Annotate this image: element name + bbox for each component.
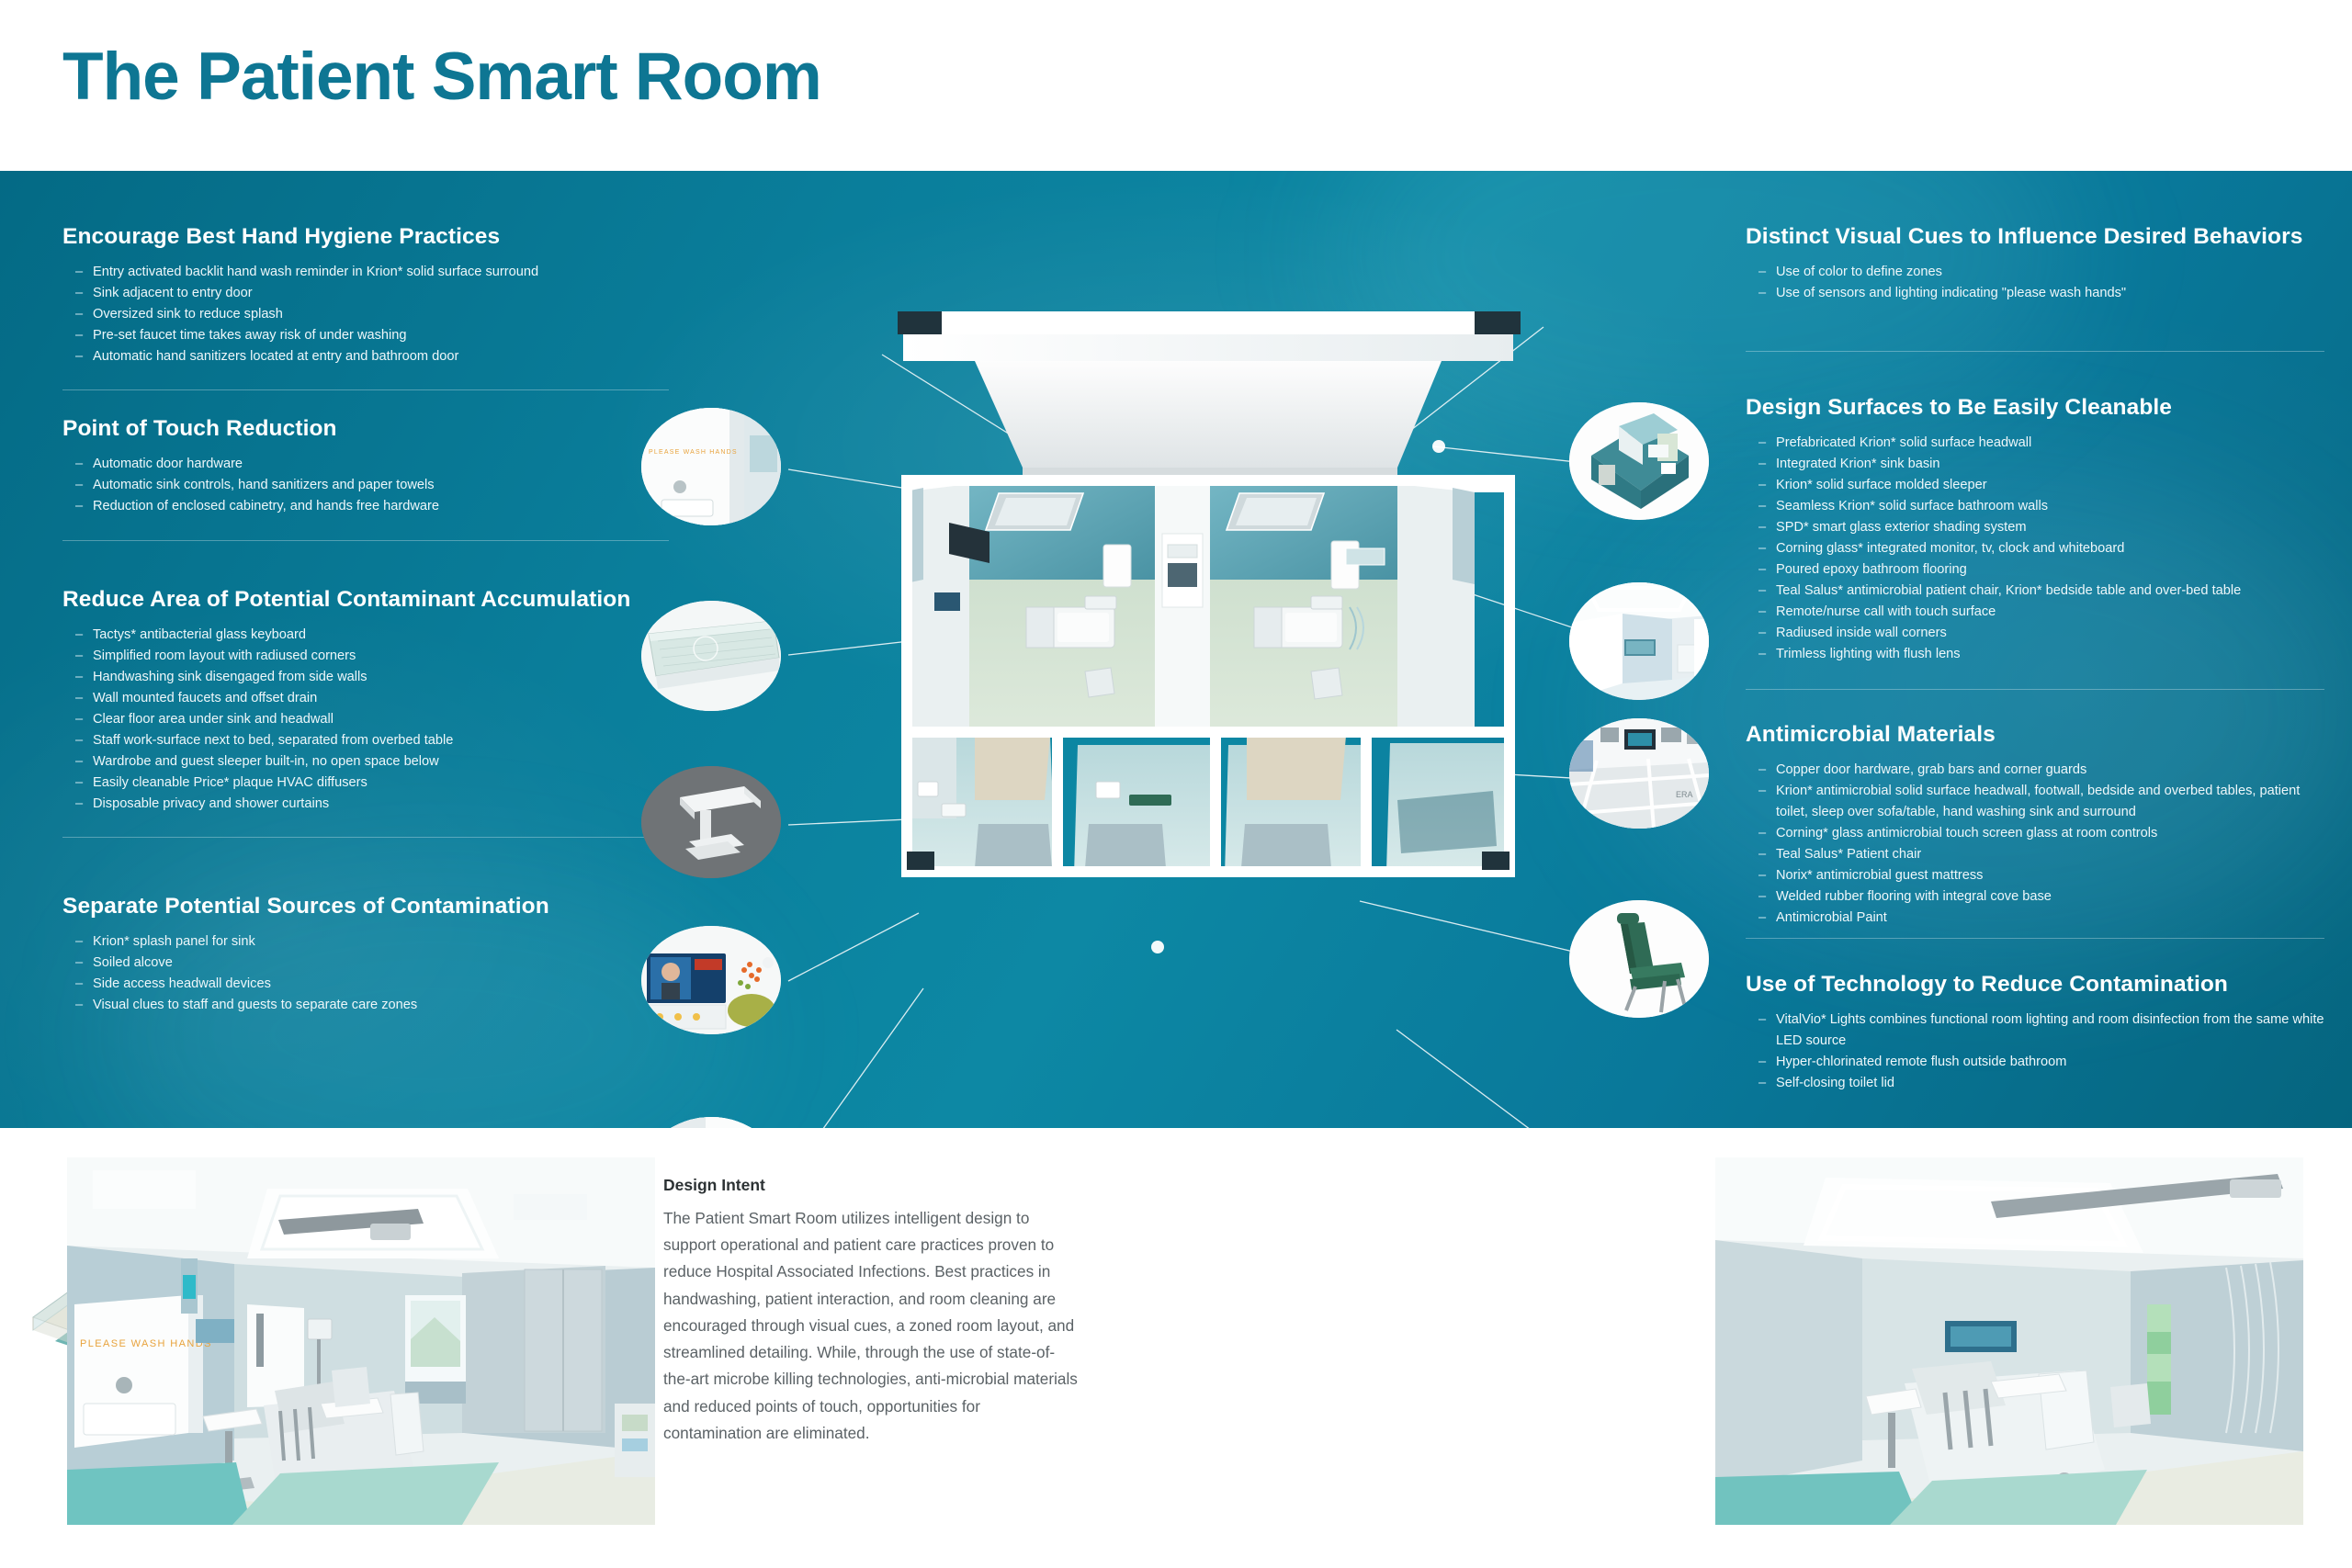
list-item: Clear floor area under sink and headwall [62, 709, 630, 730]
patient-chair-callout [1569, 900, 1709, 1018]
section-heading: Distinct Visual Cues to Influence Desire… [1746, 224, 2302, 250]
list-item: Staff work-surface next to bed, separate… [62, 730, 630, 751]
list-item: Soiled alcove [62, 953, 549, 974]
list-item: SPD* smart glass exterior shading system [1746, 517, 2241, 538]
list-item: Corning* glass antimicrobial touch scree… [1746, 823, 2324, 844]
list-item: Tactys* antibacterial glass keyboard [62, 625, 630, 646]
list-item: Sink adjacent to entry door [62, 283, 538, 304]
svg-text:PLEASE WASH HANDS: PLEASE WASH HANDS [649, 449, 738, 456]
list-item: Easily cleanable Price* plaque HVAC diff… [62, 773, 630, 794]
list-item: Automatic door hardware [62, 454, 439, 475]
section-list: Tactys* antibacterial glass keyboard Sim… [62, 625, 630, 815]
section-list: Entry activated backlit hand wash remind… [62, 262, 538, 367]
list-item: Entry activated backlit hand wash remind… [62, 262, 538, 283]
list-item: Use of color to define zones [1746, 262, 2302, 283]
section-heading: Point of Touch Reduction [62, 416, 439, 442]
divider [1746, 351, 2324, 352]
patient-room-photo-right [1715, 1157, 2303, 1525]
list-item: Krion* splash panel for sink [62, 931, 549, 953]
list-item: Krion* solid surface molded sleeper [1746, 475, 2241, 496]
section-heading: Encourage Best Hand Hygiene Practices [62, 224, 538, 250]
divider [1746, 689, 2324, 690]
section-contaminant-accumulation: Reduce Area of Potential Contaminant Acc… [62, 587, 630, 815]
section-hand-hygiene: Encourage Best Hand Hygiene Practices En… [62, 224, 538, 367]
list-item: Teal Salus* Patient chair [1746, 844, 2324, 865]
list-item: Simplified room layout with radiused cor… [62, 646, 630, 667]
list-item: Wardrobe and guest sleeper built-in, no … [62, 751, 630, 773]
divider [62, 540, 669, 541]
list-item: Teal Salus* antimicrobial patient chair,… [1746, 581, 2241, 602]
bottom-strip: PLEASE WASH HANDS [0, 1128, 2352, 1568]
section-list: Copper door hardware, grab bars and corn… [1746, 760, 2324, 929]
list-item: Antimicrobial Paint [1746, 908, 2324, 929]
design-intent-body: The Patient Smart Room utilizes intellig… [663, 1205, 1081, 1447]
divider [62, 389, 669, 390]
zoned-color-room-callout [1569, 402, 1709, 520]
glass-keyboard-callout [641, 601, 781, 711]
list-item: Automatic hand sanitizers located at ent… [62, 346, 538, 367]
trimless-lighting-callout [1569, 582, 1709, 700]
design-intent-block: Design Intent The Patient Smart Room uti… [663, 1176, 1081, 1447]
list-item: Welded rubber flooring with integral cov… [1746, 886, 2324, 908]
divider [62, 837, 669, 838]
list-item: Oversized sink to reduce splash [62, 304, 538, 325]
list-item: Prefabricated Krion* solid surface headw… [1746, 433, 2241, 454]
page-title: The Patient Smart Room [62, 39, 821, 115]
svg-text:ERA: ERA [1676, 790, 1693, 799]
list-item: Use of sensors and lighting indicating "… [1746, 283, 2302, 304]
list-item: Radiused inside wall corners [1746, 623, 2241, 644]
section-visual-cues: Distinct Visual Cues to Influence Desire… [1746, 224, 2302, 304]
list-item: Hyper-chlorinated remote flush outside b… [1746, 1052, 2324, 1073]
title-bar: The Patient Smart Room [0, 0, 2352, 171]
section-antimicrobial-materials: Antimicrobial Materials Copper door hard… [1746, 722, 2324, 929]
section-list: Prefabricated Krion* solid surface headw… [1746, 433, 2241, 666]
section-list: Krion* splash panel for sink Soiled alco… [62, 931, 549, 1016]
list-item: Disposable privacy and shower curtains [62, 794, 630, 815]
list-item: Handwashing sink disengaged from side wa… [62, 667, 630, 688]
list-item: Corning glass* integrated monitor, tv, c… [1746, 538, 2241, 559]
list-item: Seamless Krion* solid surface bathroom w… [1746, 496, 2241, 517]
list-item: Trimless lighting with flush lens [1746, 644, 2241, 665]
list-item: Poured epoxy bathroom flooring [1746, 559, 2241, 581]
overbed-table-callout [641, 766, 781, 878]
list-item: Side access headwall devices [62, 974, 549, 995]
list-item: Pre-set faucet time takes away risk of u… [62, 325, 538, 346]
divider [1746, 938, 2324, 939]
section-list: Use of color to define zones Use of sens… [1746, 262, 2302, 304]
section-heading: Use of Technology to Reduce Contaminatio… [1746, 972, 2324, 998]
list-item: Copper door hardware, grab bars and corn… [1746, 760, 2324, 781]
main-infographic-panel: Encourage Best Hand Hygiene Practices En… [0, 171, 2352, 1128]
design-intent-heading: Design Intent [663, 1176, 1081, 1195]
section-point-of-touch: Point of Touch Reduction Automatic door … [62, 416, 439, 517]
list-item: Wall mounted faucets and offset drain [62, 688, 630, 709]
splash-panel-callout [641, 1117, 781, 1128]
section-heading: Separate Potential Sources of Contaminat… [62, 894, 549, 919]
list-item: Remote/nurse call with touch surface [1746, 602, 2241, 623]
light-pattern-callout: ERA [1569, 718, 1709, 829]
list-item: Visual clues to staff and guests to sepa… [62, 995, 549, 1016]
section-heading: Design Surfaces to Be Easily Cleanable [1746, 395, 2241, 421]
list-item: VitalVio* Lights combines functional roo… [1746, 1010, 2324, 1052]
section-technology: Use of Technology to Reduce Contaminatio… [1746, 972, 2324, 1094]
section-list: Automatic door hardware Automatic sink c… [62, 454, 439, 517]
section-list: VitalVio* Lights combines functional roo… [1746, 1010, 2324, 1094]
list-item: Reduction of enclosed cabinetry, and han… [62, 496, 439, 517]
room-cutaway-render [887, 304, 1530, 1112]
list-item: Krion* antimicrobial solid surface headw… [1746, 781, 2324, 823]
patient-room-photo-left: PLEASE WASH HANDS [67, 1157, 655, 1525]
list-item: Integrated Krion* sink basin [1746, 454, 2241, 475]
section-separate-sources: Separate Potential Sources of Contaminat… [62, 894, 549, 1016]
section-heading: Reduce Area of Potential Contaminant Acc… [62, 587, 630, 613]
list-item: Self-closing toilet lid [1746, 1073, 2324, 1094]
bedside-media-tray-callout [641, 926, 781, 1034]
handwash-station-callout: PLEASE WASH HANDS [641, 408, 781, 525]
wall-sign-text: PLEASE WASH HANDS [80, 1338, 212, 1349]
section-cleanable-surfaces: Design Surfaces to Be Easily Cleanable P… [1746, 395, 2241, 666]
list-item: Norix* antimicrobial guest mattress [1746, 865, 2324, 886]
list-item: Automatic sink controls, hand sanitizers… [62, 475, 439, 496]
section-heading: Antimicrobial Materials [1746, 722, 2324, 748]
